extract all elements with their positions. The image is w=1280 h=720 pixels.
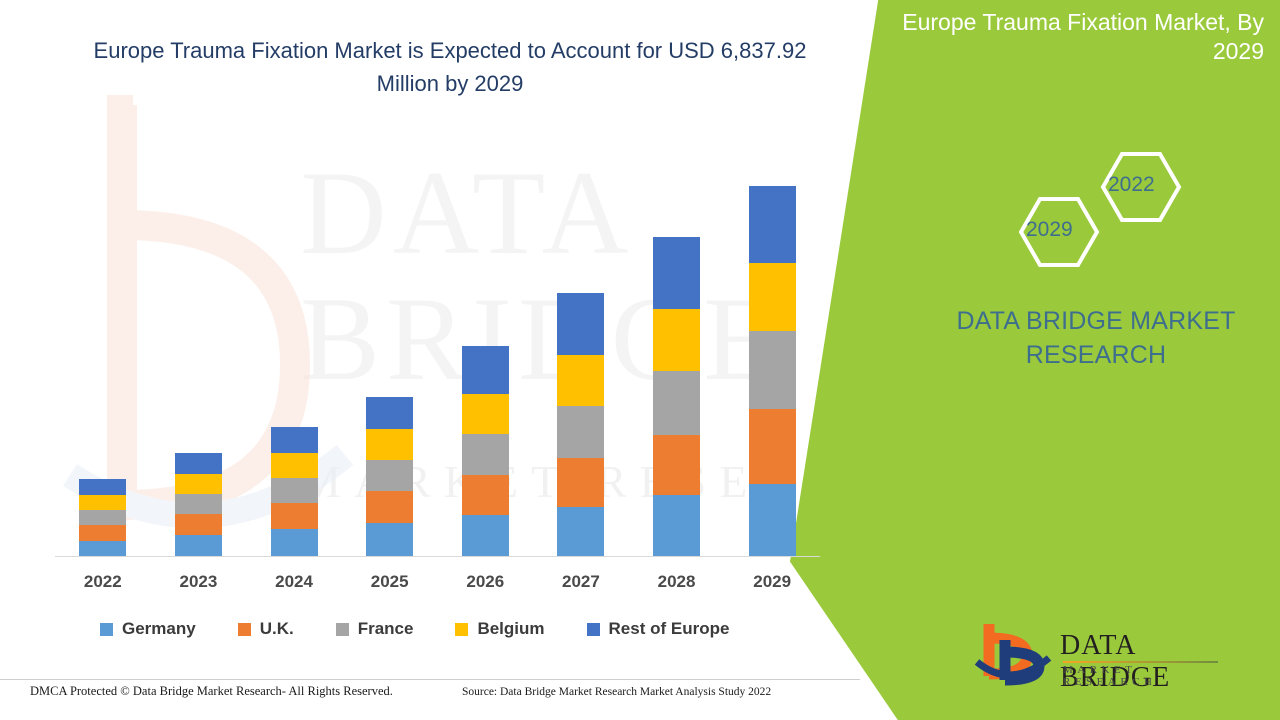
page-title: Europe Trauma Fixation Market is Expecte… [70, 34, 830, 100]
x-axis-line [55, 556, 820, 557]
panel-title: Europe Trauma Fixation Market, By 2029 [790, 0, 1280, 67]
bar-segment-rest-of-europe [557, 293, 604, 355]
hexagon-2022-label: 2022 [1108, 173, 1155, 197]
legend-label: Germany [122, 619, 196, 639]
x-axis-tick-label: 2022 [73, 572, 133, 592]
legend-label: Rest of Europe [609, 619, 730, 639]
footer-divider [0, 679, 860, 680]
x-axis-tick-label: 2029 [742, 572, 802, 592]
bar-segment-germany [653, 495, 700, 557]
bar-segment-germany [557, 507, 604, 557]
bar-segment-france [175, 494, 222, 514]
bar-segment-belgium [653, 309, 700, 371]
bar-segment-belgium [271, 453, 318, 478]
legend-swatch-icon [455, 623, 468, 636]
x-axis-tick-label: 2023 [168, 572, 228, 592]
panel-brand-line2: RESEARCH [936, 339, 1256, 373]
bar-segment-france [557, 406, 604, 458]
stacked-bar-chart [55, 170, 820, 557]
bar-segment-rest-of-europe [175, 453, 222, 474]
bar-segment-france [462, 434, 509, 475]
x-axis-tick-label: 2025 [360, 572, 420, 592]
bar-segment-germany [79, 541, 126, 557]
x-axis-tick-label: 2024 [264, 572, 324, 592]
footer-source: Source: Data Bridge Market Research Mark… [462, 686, 771, 698]
bar-segment-france [79, 510, 126, 525]
legend-item-belgium[interactable]: Belgium [455, 619, 544, 639]
bar-segment-france [271, 478, 318, 503]
bar-segment-rest-of-europe [79, 479, 126, 495]
bar-segment-belgium [175, 474, 222, 494]
hexagon-2029-label: 2029 [1026, 218, 1073, 242]
legend-label: U.K. [260, 619, 294, 639]
bar-segment-rest-of-europe [271, 427, 318, 453]
bar-segment-germany [271, 529, 318, 557]
legend-swatch-icon [587, 623, 600, 636]
bar-segment-france [653, 371, 700, 435]
hexagons-icon [988, 150, 1188, 280]
legend-swatch-icon [100, 623, 113, 636]
bar-column [557, 293, 604, 557]
legend-label: France [358, 619, 414, 639]
panel-brand-name: DATA BRIDGE MARKET RESEARCH [936, 305, 1256, 373]
bar-segment-u-k [749, 409, 796, 484]
bar-segment-u-k [175, 514, 222, 535]
legend-swatch-icon [238, 623, 251, 636]
bar-column [462, 346, 509, 557]
bar-column [175, 453, 222, 557]
bar-segment-germany [749, 484, 796, 557]
bar-segment-germany [462, 515, 509, 557]
legend-item-france[interactable]: France [336, 619, 414, 639]
bar-segment-france [749, 331, 796, 409]
chart-legend: GermanyU.K.FranceBelgiumRest of Europe [100, 617, 771, 641]
legend-item-germany[interactable]: Germany [100, 619, 196, 639]
x-axis-tick-label: 2026 [455, 572, 515, 592]
hexagon-group: 2022 2029 [988, 150, 1188, 280]
bar-segment-rest-of-europe [749, 186, 796, 263]
data-bridge-logo: DATA BRIDGE MARKET RESEARCH [975, 618, 1225, 698]
logo-tagline: MARKET RESEARCH [1063, 664, 1225, 688]
bar-segment-france [366, 460, 413, 491]
legend-swatch-icon [336, 623, 349, 636]
bar-segment-belgium [557, 355, 604, 406]
bar-segment-germany [175, 535, 222, 557]
bar-segment-rest-of-europe [366, 397, 413, 429]
bar-segment-u-k [653, 435, 700, 495]
bar-segment-rest-of-europe [653, 237, 700, 309]
x-axis-labels: 20222023202420252026202720282029 [55, 572, 820, 598]
bar-segment-belgium [749, 263, 796, 331]
bar-column [749, 186, 796, 557]
bar-segment-u-k [271, 503, 318, 529]
bar-segment-u-k [79, 525, 126, 541]
bar-segment-rest-of-europe [462, 346, 509, 394]
footer-copyright: DMCA Protected © Data Bridge Market Rese… [30, 684, 393, 699]
legend-label: Belgium [477, 619, 544, 639]
legend-item-u-k[interactable]: U.K. [238, 619, 294, 639]
bar-column [366, 397, 413, 557]
data-bridge-mark-icon [975, 618, 1055, 688]
bar-column [271, 427, 318, 557]
logo-divider [1063, 661, 1218, 663]
bar-segment-belgium [462, 394, 509, 434]
bar-column [79, 479, 126, 557]
bar-segment-u-k [462, 475, 509, 515]
bar-segment-belgium [366, 429, 413, 460]
x-axis-tick-label: 2027 [551, 572, 611, 592]
bar-segment-u-k [557, 458, 604, 507]
legend-item-rest-of-europe[interactable]: Rest of Europe [587, 619, 730, 639]
bar-column [653, 237, 700, 557]
bar-segment-belgium [79, 495, 126, 510]
panel-brand-line1: DATA BRIDGE MARKET [936, 305, 1256, 339]
x-axis-tick-label: 2028 [647, 572, 707, 592]
bar-segment-germany [366, 523, 413, 557]
bar-segment-u-k [366, 491, 413, 523]
